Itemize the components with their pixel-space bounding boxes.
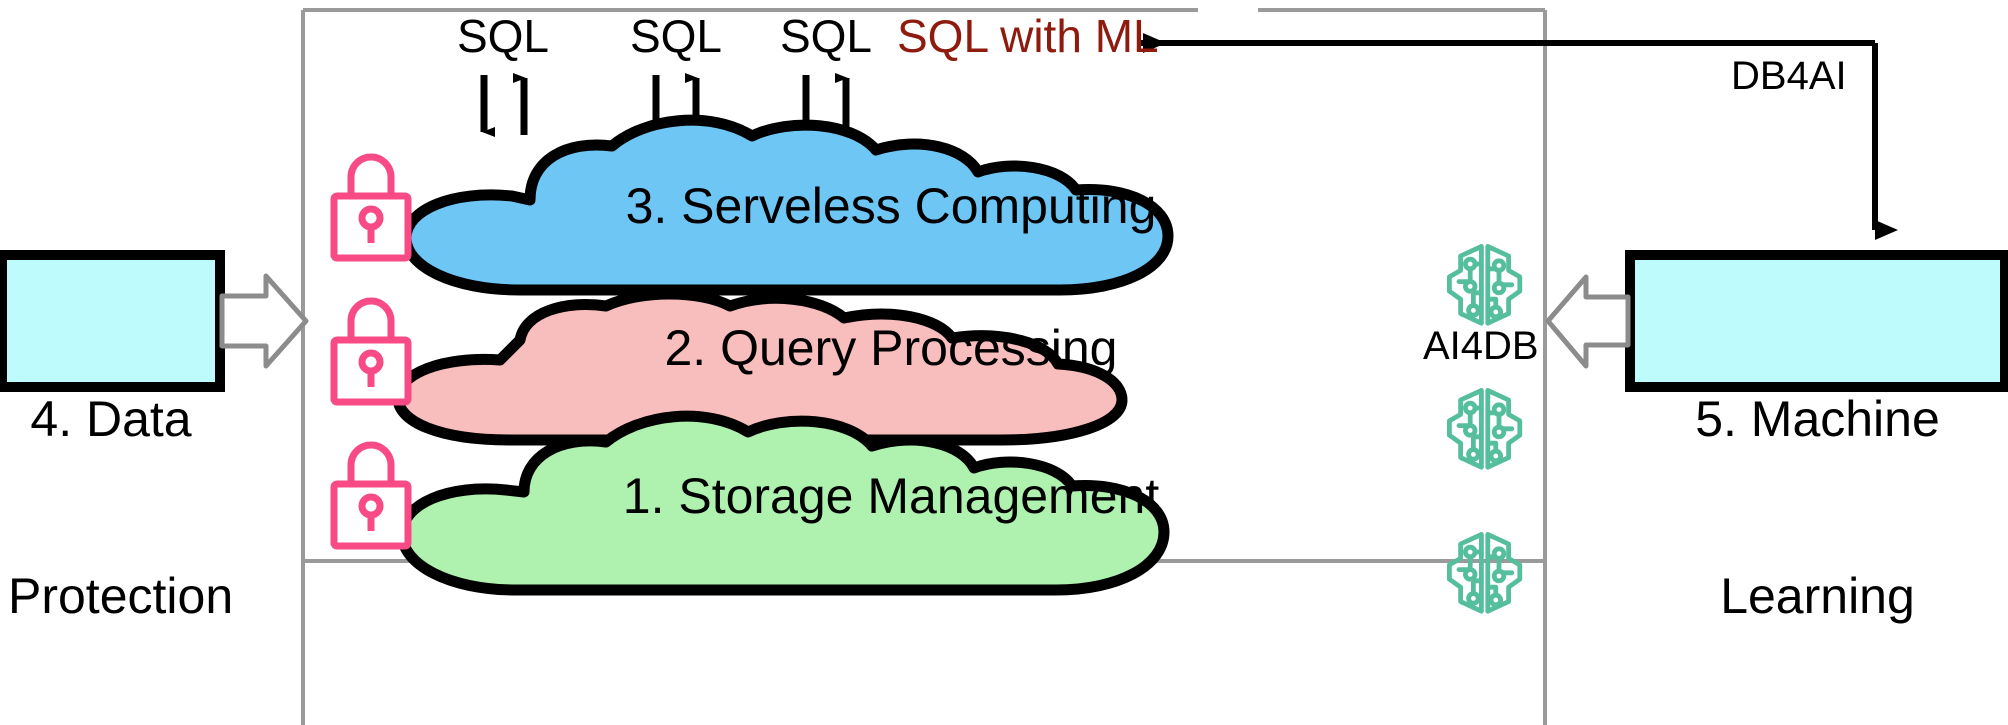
sql-label-1: SQL xyxy=(438,12,568,60)
ai-brain-circuit-icon-serverless xyxy=(1449,246,1519,323)
machine-learning-line-2: Learning xyxy=(1636,567,1999,626)
machine-learning-line-1: 5. Machine xyxy=(1636,390,1999,449)
sql-label-3: SQL xyxy=(761,12,891,60)
cloud-label-query: 2. Query Processing xyxy=(486,322,1296,375)
cloud-label-storage: 1. Storage Management xyxy=(486,470,1296,523)
lock-icon-query xyxy=(334,301,408,402)
lock-icon-serverless xyxy=(334,157,408,258)
sql-label-2: SQL xyxy=(611,12,741,60)
sql-with-ml-label: SQL with ML xyxy=(897,12,1159,60)
hollow-left-arrow-ai4db xyxy=(1548,277,1628,366)
data-protection-line-2: Protection xyxy=(8,567,214,626)
data-protection-line-1: 4. Data xyxy=(8,390,214,449)
ai4db-label: AI4DB xyxy=(1423,325,1539,367)
machine-learning-label: 5. Machine Learning xyxy=(1636,272,1999,725)
ai-brain-circuit-icon-storage xyxy=(1449,534,1519,611)
sql-arrow-pair-1 xyxy=(484,75,524,135)
ai-brain-circuit-icon-query xyxy=(1449,390,1519,467)
cloud-label-serverless: 3. Serveless Computing xyxy=(486,180,1296,233)
db4ai-label: DB4AI xyxy=(1731,55,1847,97)
hollow-right-arrow-data-protection xyxy=(222,276,306,366)
data-protection-label: 4. Data Protection xyxy=(8,272,214,725)
diagram-canvas: SQL SQL SQL SQL with ML DB4AI AI4DB 3. S… xyxy=(0,0,2008,725)
lock-icon-storage xyxy=(334,445,408,546)
